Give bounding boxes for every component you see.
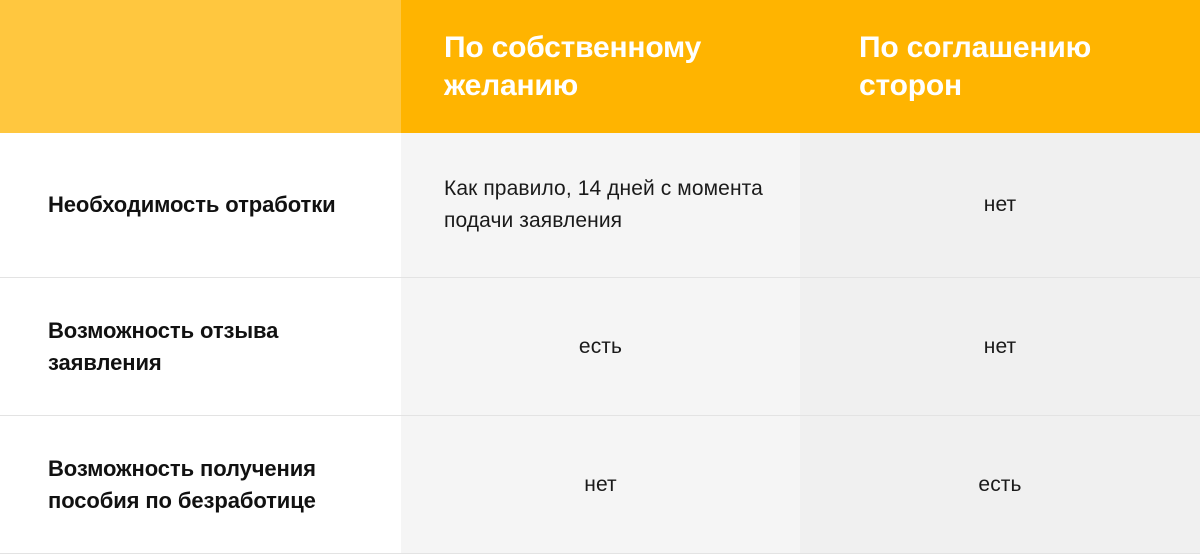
table-cell-criteria: Необходимость отработки [0,133,401,277]
table-cell-agreement: нет [800,133,1200,277]
table-body: Необходимость отработки Как правило, 14 … [0,133,1200,554]
value-agreement: нет [984,189,1017,221]
table-row: Возможность получения пособия по безрабо… [0,416,1200,554]
table-cell-own-will: Как правило, 14 дней с момента подачи за… [401,133,800,277]
criteria-label: Необходимость отработки [48,189,336,220]
table-cell-agreement: нет [800,278,1200,415]
table-cell-criteria: Возможность получения пособия по безрабо… [0,416,401,553]
table-header-cell-own-will: По собственному желанию [401,0,800,133]
table-header-label-agreement: По соглашению сторон [859,29,1170,103]
comparison-table: По собственному желанию По соглашению ст… [0,0,1200,554]
table-cell-criteria: Возможность отзыва заявления [0,278,401,415]
table-row: Необходимость отработки Как правило, 14 … [0,133,1200,278]
criteria-label: Возможность получения пособия по безрабо… [48,453,375,515]
value-own-will: нет [584,469,617,501]
table-header-row: По собственному желанию По соглашению ст… [0,0,1200,133]
value-own-will: есть [579,331,622,363]
value-agreement: нет [984,331,1017,363]
table-cell-agreement: есть [800,416,1200,553]
value-agreement: есть [978,469,1021,501]
table-header-cell-criteria [0,0,401,133]
criteria-label: Возможность отзыва заявления [48,315,375,377]
table-cell-own-will: есть [401,278,800,415]
table-header-label-own-will: По собственному желанию [444,29,770,103]
table-header-cell-agreement: По соглашению сторон [800,0,1200,133]
table-row: Возможность отзыва заявления есть нет [0,278,1200,416]
table-cell-own-will: нет [401,416,800,553]
value-own-will: Как правило, 14 дней с момента подачи за… [444,173,774,237]
